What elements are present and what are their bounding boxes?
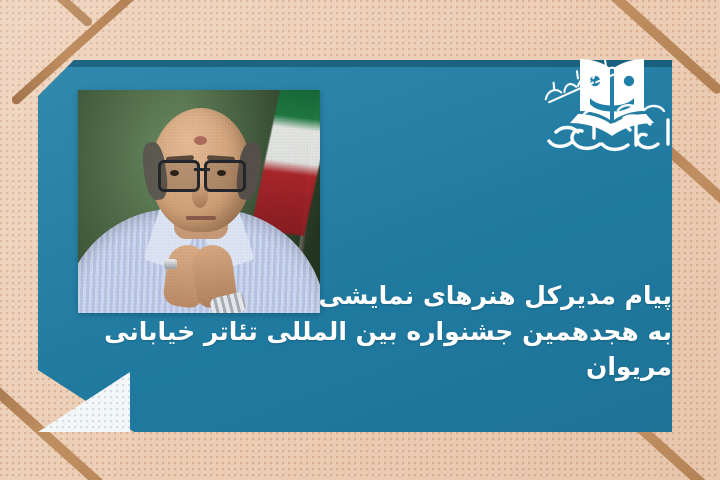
banner-canvas: پیام مدیرکل هنرهای نمایشی به هجدهمین جشن… <box>0 0 720 480</box>
headline-line-1: پیام مدیرکل هنرهای نمایشی <box>72 278 672 314</box>
headline-line-2: به هجدهمین جشنواره بین المللی تئاتر خیاب… <box>72 314 672 385</box>
headline: پیام مدیرکل هنرهای نمایشی به هجدهمین جشن… <box>72 278 672 385</box>
performing-arts-logo <box>532 48 692 160</box>
